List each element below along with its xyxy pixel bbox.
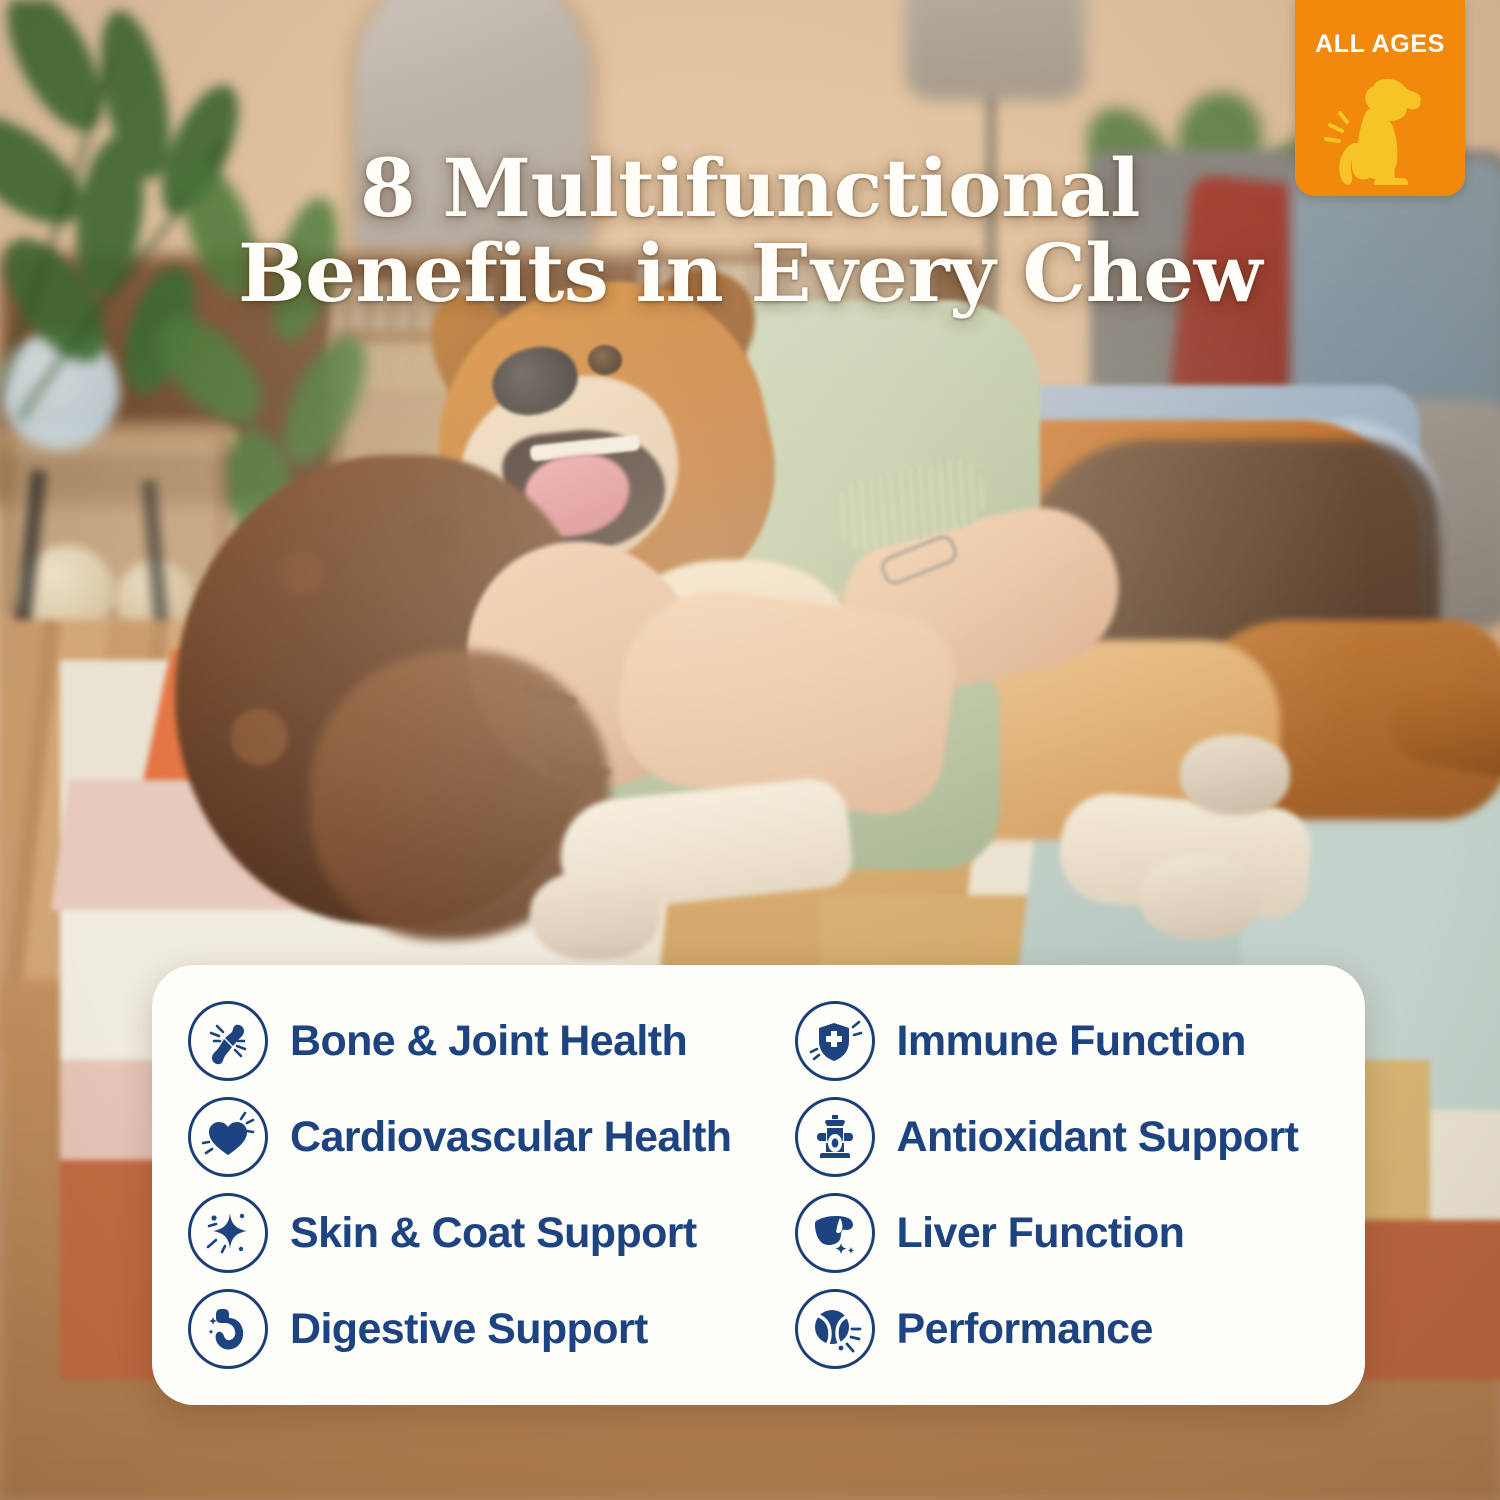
product-infographic: 8 Multifunctional Benefits in Every Chew… — [0, 0, 1500, 1500]
benefit-label: Immune Function — [897, 1017, 1246, 1066]
benefit-label: Digestive Support — [290, 1305, 648, 1354]
benefit-item: Digestive Support — [152, 1281, 759, 1377]
benefit-label: Antioxidant Support — [897, 1113, 1299, 1162]
benefit-label: Skin & Coat Support — [290, 1209, 697, 1258]
benefit-label: Liver Function — [897, 1209, 1185, 1258]
benefit-label: Cardiovascular Health — [290, 1113, 731, 1162]
benefit-item: Bone & Joint Health — [152, 993, 759, 1089]
heart-icon — [188, 1097, 268, 1177]
benefit-item: Performance — [759, 1281, 1366, 1377]
all-ages-badge: ALL AGES — [1295, 0, 1465, 196]
stomach-icon — [188, 1289, 268, 1369]
liver-icon — [795, 1193, 875, 1273]
all-ages-label: ALL AGES — [1315, 30, 1445, 59]
tennis-ball-icon — [795, 1289, 875, 1369]
benefit-item: Cardiovascular Health — [152, 1089, 759, 1185]
bone-joint-icon — [188, 1001, 268, 1081]
sparkle-star-icon — [188, 1193, 268, 1273]
page-title: 8 Multifunctional Benefits in Every Chew — [0, 146, 1500, 317]
benefit-item: Skin & Coat Support — [152, 1185, 759, 1281]
benefits-card: Bone & Joint Health Immune Function — [152, 965, 1365, 1405]
benefit-item: Antioxidant Support — [759, 1089, 1366, 1185]
benefit-label: Bone & Joint Health — [290, 1017, 687, 1066]
sitting-dog-silhouette-icon — [1320, 65, 1440, 185]
benefit-item: Liver Function — [759, 1185, 1366, 1281]
benefit-item: Immune Function — [759, 993, 1366, 1089]
shield-plus-icon — [795, 1001, 875, 1081]
fire-hydrant-icon — [795, 1097, 875, 1177]
benefit-label: Performance — [897, 1305, 1153, 1354]
